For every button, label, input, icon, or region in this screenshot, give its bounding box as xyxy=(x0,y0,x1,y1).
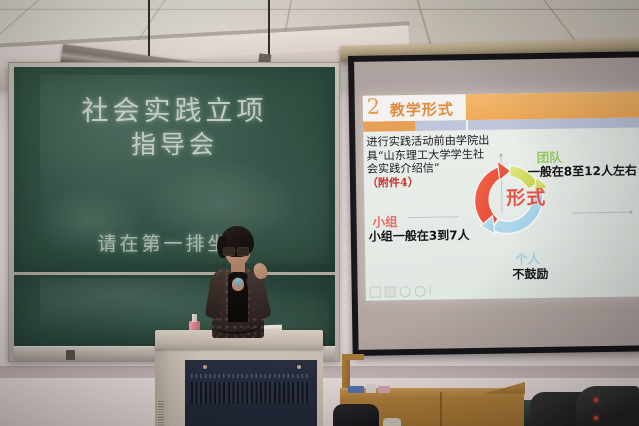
value-individual: 不鼓励 xyxy=(512,265,548,283)
lectern-side-panel xyxy=(155,349,169,426)
slide-section-number: 2 xyxy=(367,95,381,119)
chalkboard-inner: 社会实践立项 指导会 请在第一排坐到 xyxy=(14,67,335,347)
lens-left xyxy=(223,247,235,256)
foreground-dark-object-2 xyxy=(576,386,639,426)
chalk-heading-line2: 指导会 xyxy=(14,125,335,161)
panel-screw-right xyxy=(297,365,301,369)
connector-dot-indiv xyxy=(629,211,632,214)
projection-screen-frame: 2 教学形式 进行实践活动前由学院出具“山东理工大学学生社会实践介绍信” （附件… xyxy=(348,51,639,356)
indicator-led xyxy=(594,398,598,402)
lens-right xyxy=(237,247,249,256)
panel-screw-left xyxy=(203,365,207,369)
ring-center-label: 形式 xyxy=(506,183,546,211)
chalk-note-line: 请在第一排坐到 xyxy=(14,229,335,256)
foreground-dark-object-3 xyxy=(333,404,379,426)
lectern-vent-dots xyxy=(191,374,309,378)
connector-line-indiv xyxy=(572,212,630,214)
circle-icon xyxy=(400,286,411,297)
connector-line-group xyxy=(409,216,459,218)
bottle-neck xyxy=(192,314,197,322)
value-group: 小组一般在3到7人 xyxy=(369,226,470,245)
desk-items xyxy=(348,384,392,393)
slide-attachment-note: （附件4） xyxy=(367,175,419,189)
line-icon xyxy=(430,286,436,295)
glasses-bridge xyxy=(233,250,237,251)
chalkboard-panel-upper[interactable]: 社会实践立项 指导会 请在第一排坐到 xyxy=(14,67,335,275)
square-icon xyxy=(385,286,396,297)
pencil-icon xyxy=(370,287,381,298)
presenter[interactable] xyxy=(196,226,282,338)
eyeglasses xyxy=(223,247,251,254)
desk-seam xyxy=(440,392,442,426)
value-team: 一般在8至12人左右 xyxy=(528,161,637,180)
slide-header-divider xyxy=(466,120,468,130)
projection-screen-surface: 2 教学形式 进行实践活动前由学院出具“山东理工大学学生社会实践介绍信” （附件… xyxy=(354,57,639,349)
lectern[interactable] xyxy=(155,330,323,426)
presentation-slide[interactable]: 2 教学形式 进行实践活动前由学院出具“山东理工大学学生社会实践介绍信” （附件… xyxy=(363,91,639,300)
foreground-white-object xyxy=(383,418,401,426)
ellipse-icon xyxy=(415,286,426,297)
lectern-side-vent xyxy=(158,401,164,426)
slide-header-subband-accent xyxy=(363,121,415,132)
slide-title: 教学形式 xyxy=(390,98,454,120)
lectern-front-panel xyxy=(185,360,317,426)
indicator-led-2 xyxy=(594,416,598,420)
chalk-heading-line1: 社会实践立项 xyxy=(14,89,335,128)
lectern-vent-slots xyxy=(191,382,309,404)
chalkboard-frame: 社会实践立项 指导会 请在第一排坐到 xyxy=(8,62,340,362)
classroom-photo: 社会实践立项 指导会 请在第一排坐到 2 教学形式 xyxy=(0,0,639,426)
desk-support-arm xyxy=(342,354,364,360)
slide-drawing-toolbar-icons xyxy=(370,286,436,298)
